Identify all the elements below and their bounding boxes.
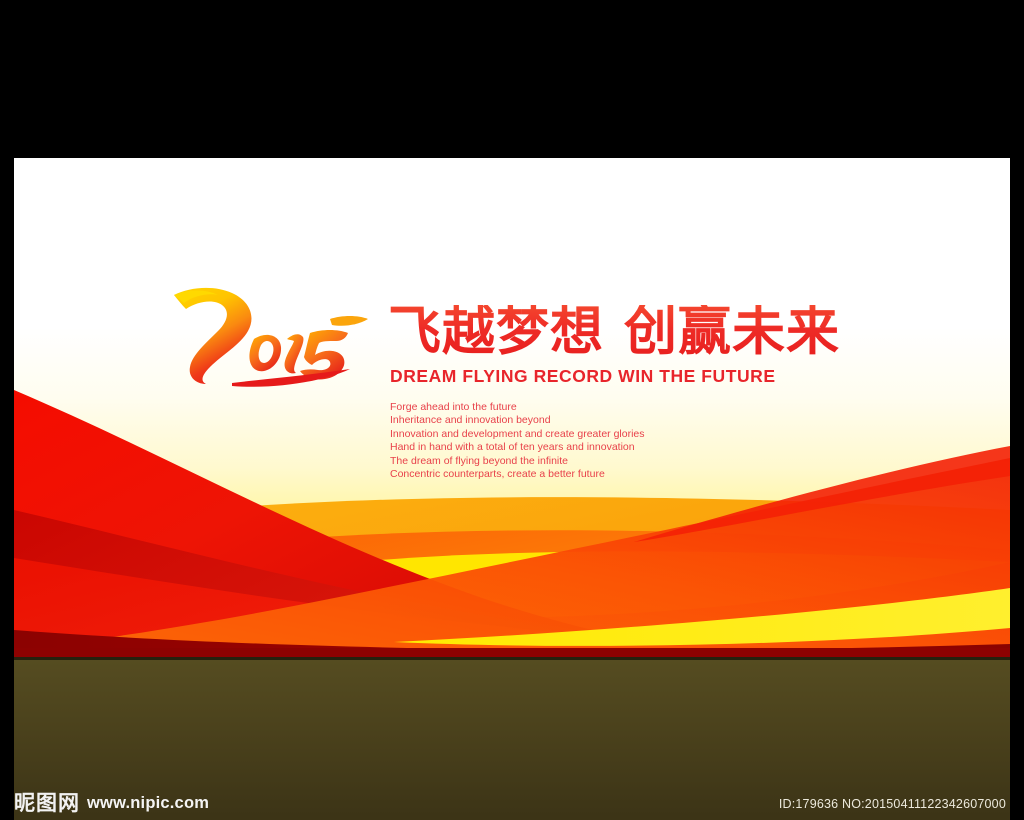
watermark-url: www.nipic.com <box>87 795 209 812</box>
headline-chinese-part1: 飞越梦想 <box>388 302 604 361</box>
year-2015-logo <box>170 283 375 393</box>
body-line: Innovation and development and create gr… <box>390 428 645 441</box>
body-line: Hand in hand with a total of ten years a… <box>390 441 645 454</box>
image-id-code: ID:179636 NO:20150411122342607000 <box>779 797 1006 811</box>
reflection-seam <box>14 657 1010 660</box>
footer-bar: 昵图网 www.nipic.com ID:179636 NO:201504111… <box>0 780 1024 820</box>
headline-chinese: 飞越梦想创赢未来 <box>388 305 840 358</box>
body-line: Concentric counterparts, create a better… <box>390 468 645 481</box>
headline-chinese-part2: 创赢未来 <box>624 302 840 361</box>
body-copy: Forge ahead into the future Inheritance … <box>390 401 645 481</box>
body-line: Forge ahead into the future <box>390 401 645 414</box>
body-line: Inheritance and innovation beyond <box>390 414 645 427</box>
body-line: The dream of flying beyond the infinite <box>390 455 645 468</box>
site-watermark: 昵图网 www.nipic.com <box>14 793 209 814</box>
poster-artwork: 飞越梦想创赢未来 DREAM FLYING RECORD WIN THE FUT… <box>14 158 1010 657</box>
watermark-logo-text: 昵图网 <box>14 793 80 814</box>
headline-english: DREAM FLYING RECORD WIN THE FUTURE <box>390 366 776 387</box>
headline-block: 飞越梦想创赢未来 DREAM FLYING RECORD WIN THE FUT… <box>170 283 850 483</box>
screenshot-canvas: 飞越梦想创赢未来 DREAM FLYING RECORD WIN THE FUT… <box>0 0 1024 820</box>
